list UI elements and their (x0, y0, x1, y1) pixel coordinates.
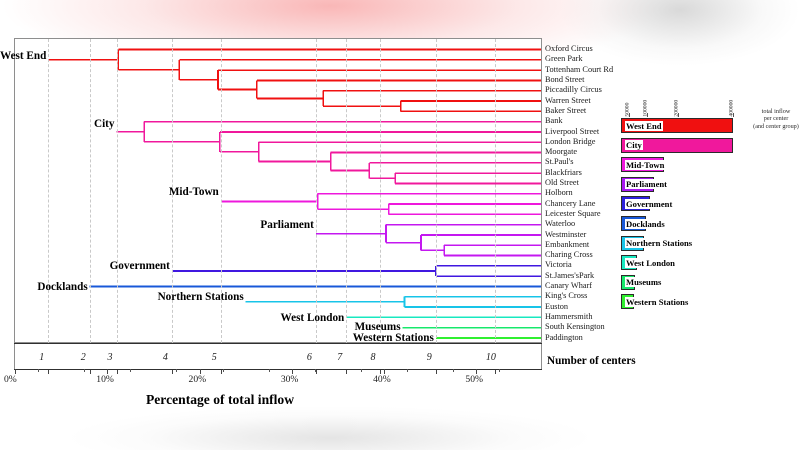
leaf-label: St.Paul's (545, 158, 573, 166)
leaf-label: Warren Street (545, 97, 591, 105)
leaf-label: Tottenham Court Rd (545, 66, 613, 74)
center-tick (117, 370, 118, 374)
axis-rule-top (14, 343, 542, 344)
cluster-label: Mid-Town (0, 187, 219, 198)
legend-bar-label: City (625, 141, 643, 150)
leaf-label: Green Park (545, 55, 583, 63)
percent-minor-tick (38, 369, 39, 372)
leaf-label: Embankment (545, 241, 589, 249)
leaf-label: London Bridge (545, 138, 595, 146)
leaf-label: Holborn (545, 189, 573, 197)
percent-minor-tick (315, 369, 316, 372)
center-tick-label: 2 (81, 353, 86, 363)
legend-caption-line-1: total inflow (752, 108, 800, 115)
leaf-label: Liverpool Street (545, 128, 599, 136)
percent-minor-tick (223, 369, 224, 372)
legend-bar-label: Western Stations (625, 298, 689, 307)
percent-tick-label: 10% (96, 375, 114, 385)
leaf-label: Euston (545, 303, 568, 311)
legend-bar-label: West London (625, 259, 676, 268)
center-tick (436, 370, 437, 374)
center-tick (346, 370, 347, 374)
percent-tick-label: 50% (465, 375, 483, 385)
legend-bar-label: West End (625, 122, 663, 131)
leaf-label: Blackfriars (545, 169, 582, 177)
percent-tick-label: 30% (281, 375, 299, 385)
center-tick-label: 1 (39, 353, 44, 363)
legend-bar-label-text: Docklands (625, 219, 666, 229)
legend-bar-label: Northern Stations (625, 239, 693, 248)
cluster-label: West End (0, 51, 46, 62)
leaf-label: Waterloo (545, 220, 575, 228)
center-tick-label: 5 (212, 353, 217, 363)
center-tick (90, 370, 91, 374)
legend-bar-label-text: West London (625, 258, 676, 268)
legend-axis-tick-label: 50000 (625, 103, 631, 117)
center-tick-label: 4 (163, 353, 168, 363)
legend-bar-label-text: Western Stations (625, 297, 689, 307)
legend-bar-label: Docklands (625, 220, 666, 229)
center-tick-label: 7 (337, 353, 342, 363)
axis-rule-bottom (14, 369, 542, 370)
percent-minor-tick (361, 369, 362, 372)
leaf-label: Charing Cross (545, 251, 593, 259)
axis-title-percentage: Percentage of total inflow (0, 392, 440, 408)
leaf-label: Paddington (545, 334, 583, 342)
legend-axis-tick-label: 400000 (729, 100, 735, 117)
legend-bar-label-text: Museums (625, 277, 662, 287)
legend-caption-line-2: per center (752, 115, 800, 122)
center-tick (316, 370, 317, 374)
center-tick-label: 3 (108, 353, 113, 363)
leaf-label: Westminster (545, 231, 586, 239)
legend-caption: total inflow per center (and center grou… (752, 108, 800, 130)
legend-bar-chart: West EndCityMid-TownParliamentGovernment… (621, 118, 739, 314)
percent-tick-label: 40% (373, 375, 391, 385)
center-tick (221, 370, 222, 374)
leaf-label: Piccadilly Circus (545, 86, 602, 94)
gridline-center-6 (316, 39, 317, 343)
leaf-label: Leicester Square (545, 210, 601, 218)
cluster-label: Government (0, 261, 170, 272)
legend-bar-label-text: Mid-Town (625, 160, 665, 170)
cluster-label: City (0, 119, 115, 130)
leaf-label: King's Cross (545, 292, 587, 300)
legend-bar-label-text: Parliament (625, 179, 668, 189)
percent-minor-tick (84, 369, 85, 372)
cluster-label: Northern Stations (0, 292, 244, 303)
percent-minor-tick (453, 369, 454, 372)
legend-bar-label-text: City (625, 140, 643, 150)
gridline-center-8 (380, 39, 381, 343)
legend-bar-label: Museums (625, 278, 662, 287)
percent-minor-tick (499, 369, 500, 372)
leaf-label: South Kensington (545, 323, 605, 331)
legend-bar-label-text: Government (625, 199, 673, 209)
legend-axis-tick-label: 100000 (643, 100, 649, 117)
leaf-label: Victoria (545, 261, 572, 269)
legend-caption-line-3: (and center group) (752, 123, 800, 130)
leaf-label: Old Street (545, 179, 579, 187)
leaf-label: Oxford Circus (545, 45, 593, 53)
leaf-label: St.James'sPark (545, 272, 594, 280)
percent-minor-tick (176, 369, 177, 372)
axis-label-number-of-centers: Number of centers (547, 355, 636, 367)
legend-bar-label-text: West End (625, 121, 663, 131)
gridline-center-10 (495, 39, 496, 343)
center-tick-label: 8 (371, 353, 376, 363)
legend-bar-label: Mid-Town (625, 161, 665, 170)
center-tick (172, 370, 173, 374)
center-tick (48, 370, 49, 374)
legend-axis-tick-label: 200000 (674, 100, 680, 117)
cluster-label: Parliament (0, 220, 314, 231)
cluster-label: Museums (0, 322, 401, 333)
leaf-label: Moorgate (545, 148, 577, 156)
legend-bar-label: Parliament (625, 180, 668, 189)
center-tick-label: 9 (427, 353, 432, 363)
leaf-label: Bank (545, 117, 563, 125)
percent-tick-label: 0% (4, 375, 17, 385)
leaf-label: Baker Street (545, 107, 586, 115)
percent-minor-tick (407, 369, 408, 372)
percent-minor-tick (269, 369, 270, 372)
leaf-label: Canary Wharf (545, 282, 592, 290)
center-tick-label: 10 (486, 353, 496, 363)
percent-minor-tick (130, 369, 131, 372)
leaf-label: Bond Street (545, 76, 584, 84)
legend-bar-label-text: Northern Stations (625, 238, 693, 248)
percent-tick-label: 20% (189, 375, 207, 385)
leaf-label: Hammersmith (545, 313, 592, 321)
figure-canvas: Oxford CircusGreen ParkTottenham Court R… (0, 0, 800, 450)
gridline-center-9 (436, 39, 437, 343)
gridline-center-7 (346, 39, 347, 343)
center-tick-label: 6 (307, 353, 312, 363)
center-tick (495, 370, 496, 374)
leaf-label: Chancery Lane (545, 200, 595, 208)
legend-bar-label: Government (625, 200, 673, 209)
